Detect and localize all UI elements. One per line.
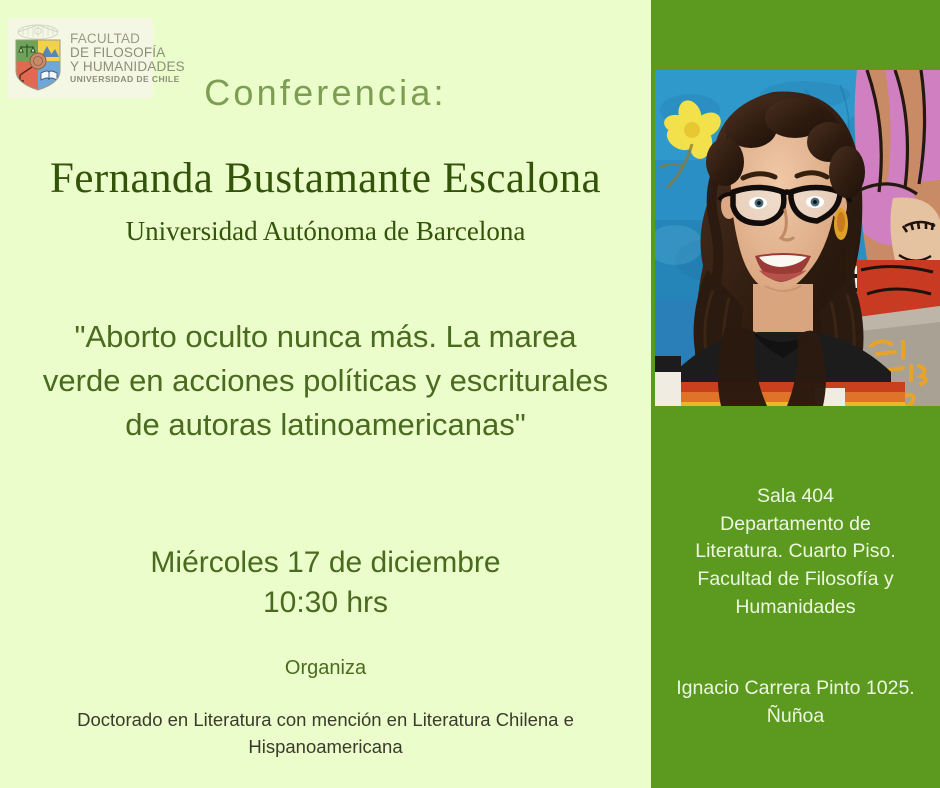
- speaker-portrait-photo: [655, 70, 940, 406]
- talk-title: "Aborto oculto nunca más. La marea verde…: [40, 315, 611, 447]
- organizer-name: Doctorado en Literatura con mención en L…: [40, 707, 611, 761]
- venue-line-1: Sala 404: [659, 483, 932, 511]
- conference-poster: FACULTAD DE FILOSOFÍA Y HUMANIDADES UNIV…: [0, 0, 940, 788]
- speaker-name: Fernanda Bustamante Escalona: [0, 155, 651, 202]
- logo-line-1: FACULTAD: [70, 32, 185, 46]
- venue-line-3: Literatura. Cuarto Piso.: [659, 538, 932, 566]
- eyebrow-label: Conferencia:: [0, 72, 651, 114]
- venue-line-4: Facultad de Filosofía y: [659, 566, 932, 594]
- address-line-2: Ñuñoa: [657, 703, 934, 731]
- venue-line-5: Humanidades: [659, 594, 932, 622]
- venue-line-2: Departamento de: [659, 511, 932, 539]
- event-datetime: Miércoles 17 de diciembre 10:30 hrs: [0, 543, 651, 622]
- speaker-affiliation: Universidad Autónoma de Barcelona: [0, 216, 651, 247]
- logo-line-2: DE FILOSOFÍA: [70, 46, 185, 60]
- venue-info: Sala 404 Departamento de Literatura. Cua…: [659, 483, 932, 621]
- right-green-panel: Sala 404 Departamento de Literatura. Cua…: [651, 0, 940, 788]
- organizer-label: Organiza: [0, 657, 651, 680]
- address-info: Ignacio Carrera Pinto 1025. Ñuñoa: [657, 675, 934, 730]
- event-time: 10:30 hrs: [0, 583, 651, 623]
- address-line-1: Ignacio Carrera Pinto 1025.: [657, 675, 934, 703]
- event-date: Miércoles 17 de diciembre: [0, 543, 651, 583]
- left-content-column: FACULTAD DE FILOSOFÍA Y HUMANIDADES UNIV…: [0, 0, 651, 788]
